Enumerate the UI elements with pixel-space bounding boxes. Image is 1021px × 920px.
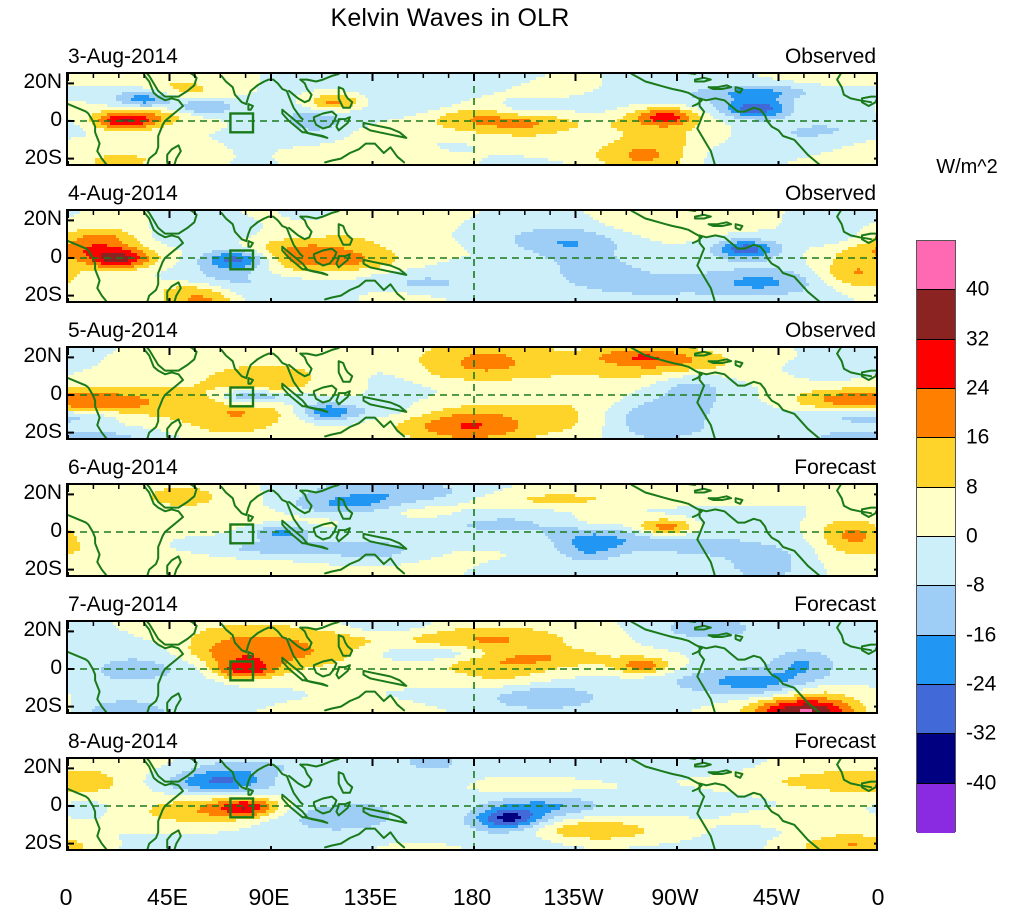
map-plot-area <box>66 483 878 577</box>
y-tick-label: 20N <box>23 619 62 640</box>
colorbar-swatch <box>917 784 955 833</box>
colorbar-tick-label: 0 <box>966 526 978 547</box>
colorbar-swatch <box>917 636 955 685</box>
colorbar-tick-label: -24 <box>966 674 996 695</box>
page-title: Kelvin Waves in OLR <box>0 4 900 33</box>
colorbar-swatch <box>917 389 955 438</box>
panel-date-label: 6-Aug-2014 <box>68 457 178 478</box>
colorbar-swatch <box>917 241 955 290</box>
y-tick-label: 20N <box>23 208 62 229</box>
x-tick-label: 90W <box>651 886 698 909</box>
colorbar-swatch <box>917 290 955 339</box>
colorbar-swatch <box>917 340 955 389</box>
x-axis-labels: 045E90E135E180135W90W45W0 <box>66 886 878 916</box>
map-plot-area <box>66 209 878 303</box>
y-tick-label: 0 <box>50 520 62 541</box>
y-tick-label: 20N <box>23 345 62 366</box>
x-tick-label: 90E <box>249 886 290 909</box>
colorbar-tick-label: 16 <box>966 427 989 448</box>
colorbar-swatch <box>917 586 955 635</box>
x-tick-label: 180 <box>453 886 491 909</box>
y-tick-label: 20S <box>25 558 62 579</box>
colorbar-tick-label: -16 <box>966 624 996 645</box>
panel-date-label: 5-Aug-2014 <box>68 320 178 341</box>
y-tick-label: 20S <box>25 695 62 716</box>
colorbar-swatch <box>917 438 955 487</box>
colorbar-tick-label: -40 <box>966 772 996 793</box>
colorbar-swatch <box>917 488 955 537</box>
panel-date-label: 7-Aug-2014 <box>68 594 178 615</box>
colorbar <box>916 240 956 832</box>
y-tick-label: 20S <box>25 832 62 853</box>
panel-status-label: Forecast <box>794 731 876 752</box>
x-tick-label: 45E <box>147 886 188 909</box>
y-tick-label: 20N <box>23 71 62 92</box>
colorbar-swatch <box>917 537 955 586</box>
colorbar-tick-label: 40 <box>966 279 989 300</box>
y-axis-labels: 20N020S <box>0 620 62 714</box>
map-plot-area <box>66 346 878 440</box>
y-axis-labels: 20N020S <box>0 346 62 440</box>
y-axis-labels: 20N020S <box>0 757 62 851</box>
panel-status-label: Forecast <box>794 594 876 615</box>
x-tick-label: 45W <box>753 886 800 909</box>
x-tick-label: 135W <box>543 886 603 909</box>
colorbar-tick-label: -32 <box>966 723 996 744</box>
colorbar-swatch <box>917 734 955 783</box>
panel-date-label: 4-Aug-2014 <box>68 183 178 204</box>
colorbar-tick-label: -8 <box>966 575 985 596</box>
y-tick-label: 0 <box>50 794 62 815</box>
y-tick-label: 20S <box>25 284 62 305</box>
y-axis-labels: 20N020S <box>0 483 62 577</box>
y-axis-labels: 20N020S <box>0 72 62 166</box>
panel-status-label: Forecast <box>794 457 876 478</box>
panel-status-label: Observed <box>785 46 876 67</box>
x-tick-label: 0 <box>872 886 885 909</box>
panel-status-label: Observed <box>785 320 876 341</box>
y-axis-labels: 20N020S <box>0 209 62 303</box>
y-tick-label: 20S <box>25 147 62 168</box>
map-plot-area <box>66 72 878 166</box>
y-tick-label: 20N <box>23 482 62 503</box>
colorbar-tick-label: 8 <box>966 476 978 497</box>
y-tick-label: 20N <box>23 756 62 777</box>
x-tick-label: 0 <box>60 886 73 909</box>
panel-date-label: 8-Aug-2014 <box>68 731 178 752</box>
y-tick-label: 0 <box>50 109 62 130</box>
colorbar-tick-label: 24 <box>966 378 989 399</box>
y-tick-label: 0 <box>50 657 62 678</box>
colorbar-tick-labels: 4032241680-8-16-24-32-40 <box>960 240 1020 832</box>
y-tick-label: 0 <box>50 383 62 404</box>
y-tick-label: 0 <box>50 246 62 267</box>
colorbar-swatch <box>917 685 955 734</box>
map-plot-area <box>66 620 878 714</box>
panel-date-label: 3-Aug-2014 <box>68 46 178 67</box>
y-tick-label: 20S <box>25 421 62 442</box>
map-plot-area <box>66 757 878 851</box>
colorbar-tick-label: 32 <box>966 328 989 349</box>
colorbar-unit-label: W/m^2 <box>913 157 1021 177</box>
panel-status-label: Observed <box>785 183 876 204</box>
x-tick-label: 135E <box>344 886 398 909</box>
